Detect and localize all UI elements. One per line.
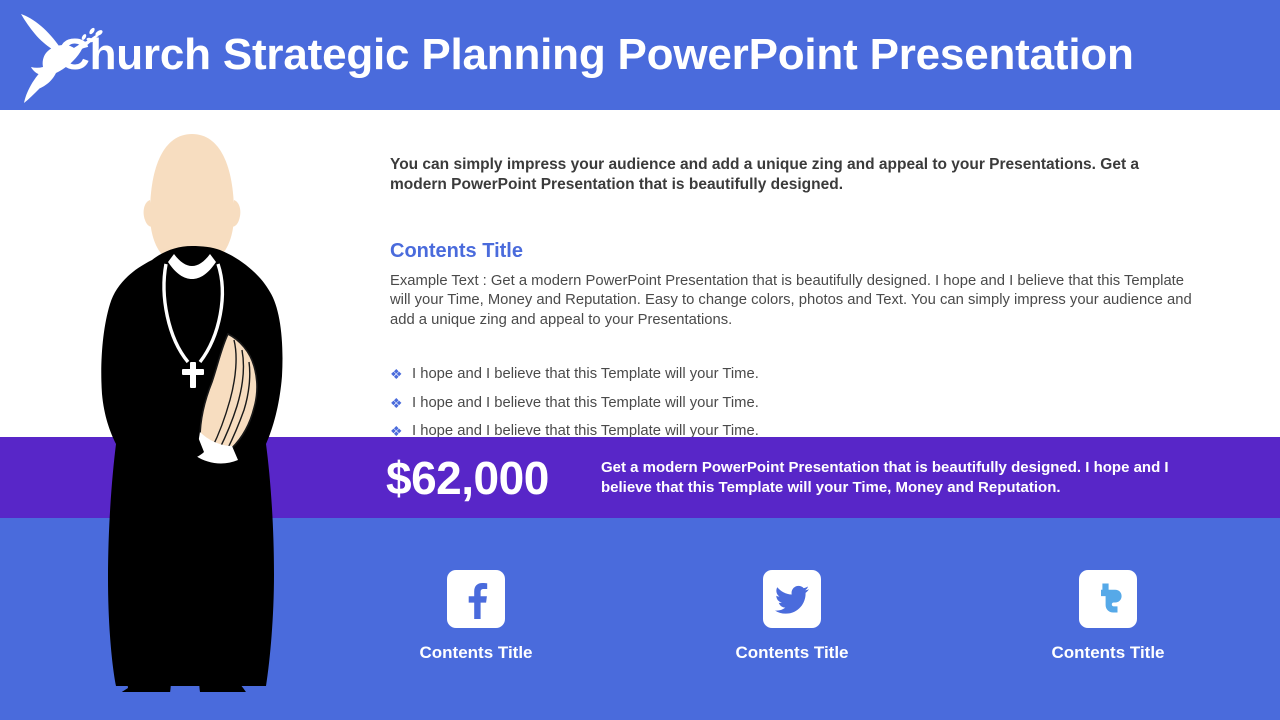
priest-head: [144, 134, 241, 262]
twitter-badge[interactable]: [763, 570, 821, 628]
slide-header: Church Strategic Planning PowerPoint Pre…: [0, 0, 1280, 110]
price-value: $62,000: [386, 451, 549, 505]
twitter-legacy-t-icon: [1088, 579, 1128, 619]
social-item-twitter-legacy[interactable]: Contents Title: [988, 570, 1228, 663]
price-description: Get a modern PowerPoint Presentation tha…: [601, 458, 1201, 498]
social-item-twitter[interactable]: Contents Title: [672, 570, 912, 663]
diamond-bullet-icon: ❖: [390, 360, 403, 389]
section-heading: Contents Title: [390, 194, 1190, 263]
social-label: Contents Title: [672, 643, 912, 663]
facebook-badge[interactable]: [447, 570, 505, 628]
dove-icon: [12, 4, 112, 104]
social-label: Contents Title: [988, 643, 1228, 663]
social-item-facebook[interactable]: Contents Title: [356, 570, 596, 663]
page-title: Church Strategic Planning PowerPoint Pre…: [58, 0, 1268, 110]
list-item-label: I hope and I believe that this Template …: [412, 395, 759, 411]
list-item-label: I hope and I believe that this Template …: [412, 366, 759, 382]
twitter-legacy-badge[interactable]: [1079, 570, 1137, 628]
social-label: Contents Title: [356, 643, 596, 663]
twitter-bird-icon: [772, 579, 812, 619]
praying-priest-illustration: [88, 126, 298, 692]
content-column: You can simply impress your audience and…: [390, 155, 1190, 446]
list-item: ❖ I hope and I believe that this Templat…: [390, 389, 1190, 418]
intro-paragraph: You can simply impress your audience and…: [390, 155, 1180, 194]
bullet-list: ❖ I hope and I believe that this Templat…: [390, 330, 1190, 446]
body-paragraph: Example Text : Get a modern PowerPoint P…: [390, 263, 1192, 330]
list-item: ❖ I hope and I believe that this Templat…: [390, 360, 1190, 389]
diamond-bullet-icon: ❖: [390, 389, 403, 418]
facebook-icon: [456, 579, 496, 619]
slide-canvas: Church Strategic Planning PowerPoint Pre…: [0, 0, 1280, 720]
